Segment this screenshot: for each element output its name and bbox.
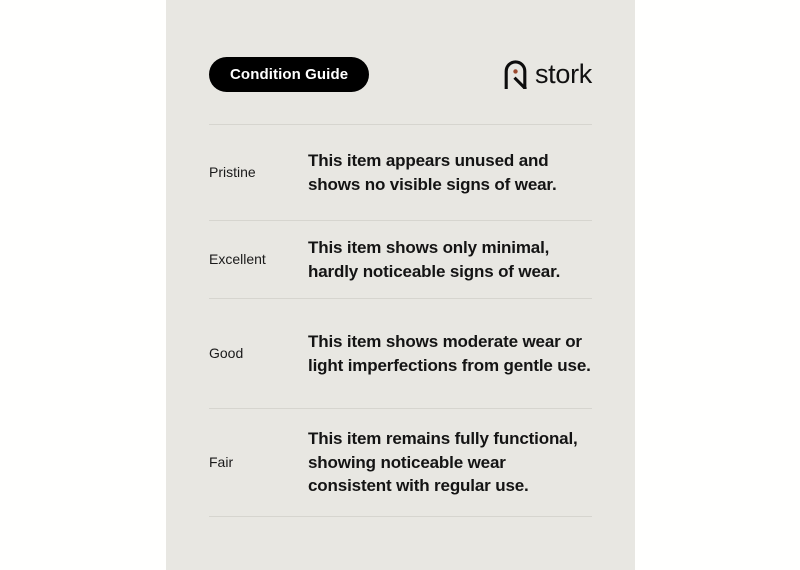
brand-logo: stork (503, 59, 592, 89)
table-row: Fair This item remains fully functional,… (209, 409, 592, 516)
condition-description: This item appears unused and shows no vi… (308, 149, 592, 196)
condition-description: This item shows moderate wear or light i… (308, 330, 592, 377)
table-row: Excellent This item shows only minimal, … (209, 221, 592, 298)
condition-description: This item remains fully functional, show… (308, 427, 592, 497)
table-row: Pristine This item appears unused and sh… (209, 125, 592, 220)
condition-label: Good (209, 344, 308, 362)
condition-guide-table: Pristine This item appears unused and sh… (209, 124, 592, 517)
stork-arch-icon (503, 59, 528, 89)
condition-label: Fair (209, 453, 308, 471)
row-divider (209, 516, 592, 517)
condition-guide-card: Condition Guide stork (166, 0, 635, 570)
page-root: Condition Guide stork (0, 0, 800, 570)
card-header: Condition Guide stork (209, 56, 592, 92)
condition-label: Excellent (209, 250, 308, 268)
condition-description: This item shows only minimal, hardly not… (308, 236, 592, 283)
condition-guide-badge[interactable]: Condition Guide (209, 57, 369, 92)
brand-wordmark: stork (535, 61, 592, 88)
table-row: Good This item shows moderate wear or li… (209, 299, 592, 408)
condition-label: Pristine (209, 163, 308, 181)
